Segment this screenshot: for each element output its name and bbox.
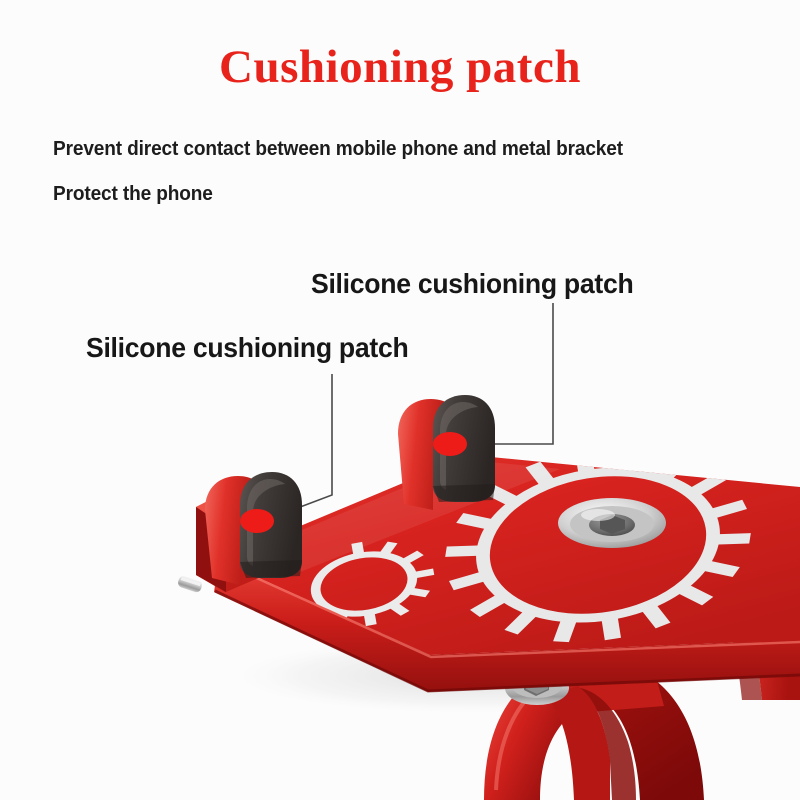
side-spring-nub-left [177, 575, 204, 594]
product-photo-illustration [0, 0, 800, 800]
marker-dot-rear-pad [433, 432, 467, 456]
product-infographic-page: Cushioning patch Prevent direct contact … [0, 0, 800, 800]
center-hex-screw [558, 498, 666, 548]
pad-rear-base-shadow [433, 484, 495, 502]
marker-dot-front-pad [240, 509, 274, 533]
pad-front-base-shadow [240, 560, 302, 578]
silicone-cushioning-pad-front [205, 472, 302, 585]
silicone-cushioning-pad-rear [398, 395, 495, 510]
